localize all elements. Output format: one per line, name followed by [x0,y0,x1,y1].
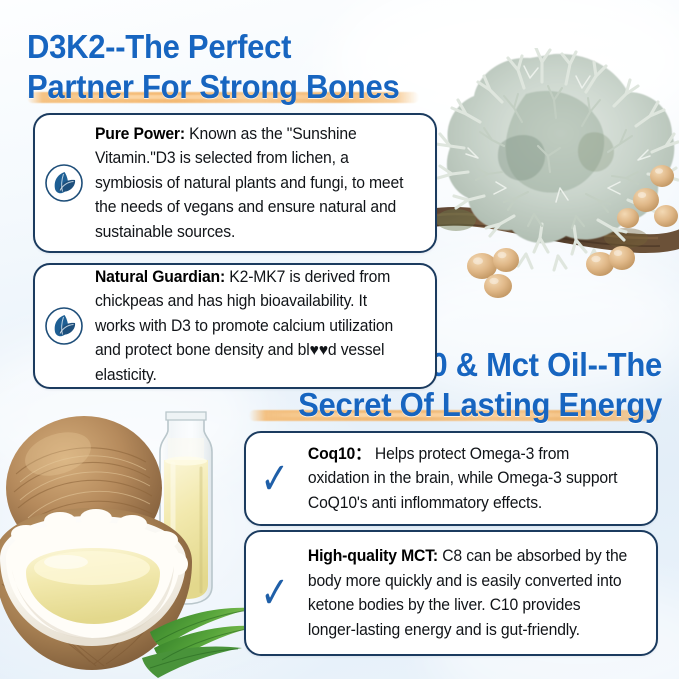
check-glyph: ✓ [261,571,289,615]
heading-line: D3K2--The Perfect [27,27,422,67]
info-box-coq10: ✓ Coq10： Helps protect Omega-3 from oxid… [244,431,658,526]
info-box-text: Natural Guardian: K2-MK7 is derived from… [93,265,425,388]
check-icon: ✓ [246,459,304,499]
info-box-high-quality-mct: ✓ High-quality MCT: C8 can be absorbed b… [244,530,658,656]
info-box-pure-power: Pure Power: Known as the "Sunshine Vitam… [33,113,437,253]
info-box-title: Coq10： [308,445,371,463]
lichen-branch-chickpeas-photo [430,48,679,313]
heading-line: Partner For Strong Bones [27,67,422,107]
info-box-title: Natural Guardian: [95,268,225,286]
heading-d3k2: D3K2--The Perfect Partner For Strong Bon… [27,27,422,107]
check-glyph: ✓ [261,457,289,501]
info-box-text: Pure Power: Known as the "Sunshine Vitam… [93,122,425,245]
heading-line: Secret Of Lasting Energy [258,385,662,425]
info-box-title: High-quality MCT: [308,547,438,565]
leaf-icon [35,306,93,346]
info-box-text: High-quality MCT: C8 can be absorbed by … [304,544,645,642]
leaf-icon [35,163,93,203]
info-box-natural-guardian: Natural Guardian: K2-MK7 is derived from… [33,263,437,389]
check-icon: ✓ [246,573,304,613]
coconut-mct-oil-photo [0,408,264,679]
info-box-text: Coq10： Helps protect Omega-3 from oxidat… [304,442,645,516]
product-infographic: D3K2--The Perfect Partner For Strong Bon… [0,0,679,679]
info-box-title: Pure Power: [95,125,185,143]
